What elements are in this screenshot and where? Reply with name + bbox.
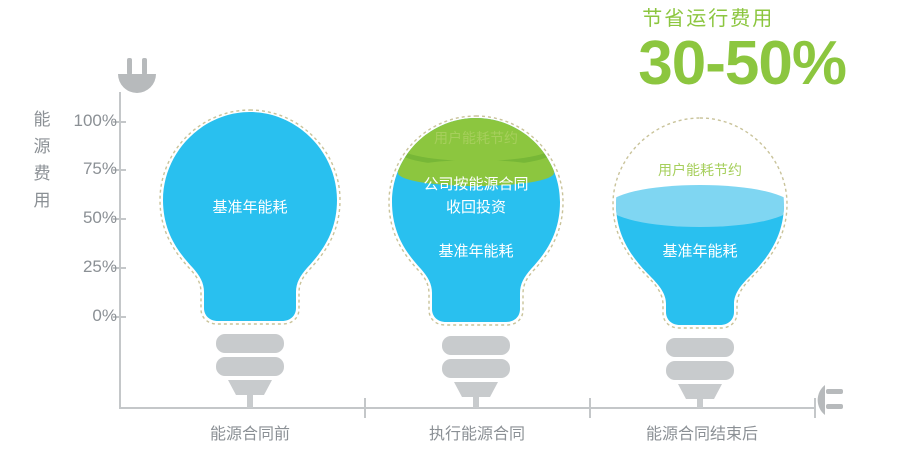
y-axis-label-char-4: 用	[31, 187, 53, 214]
bulb-after-contract	[608, 118, 800, 408]
y-axis-label-char-2: 源	[31, 133, 53, 160]
bulb-before-contract	[160, 110, 340, 408]
bulb-base	[442, 336, 510, 408]
y-axis-label-char-3: 费	[31, 160, 53, 187]
y-tick-75: 75%	[57, 159, 117, 179]
y-tick-0: 0%	[57, 306, 117, 326]
plug-icon-right	[818, 385, 843, 415]
y-axis-label-char-1: 能	[31, 106, 53, 133]
y-axis-label: 能 源 费 用	[31, 106, 53, 214]
x-label-after-contract: 能源合同结束后	[602, 420, 802, 444]
infographic-canvas: 节省运行费用 30-50% 能 源 费 用 100% 75% 50% 25% 0…	[0, 0, 900, 473]
y-tick-25: 25%	[57, 257, 117, 277]
bulb-base	[216, 334, 284, 408]
x-label-during-contract: 执行能源合同	[377, 420, 577, 444]
plug-icon-top	[118, 58, 156, 93]
x-label-before-contract: 能源合同前	[150, 420, 350, 444]
bulb-base	[666, 338, 734, 408]
y-tick-50: 50%	[57, 208, 117, 228]
y-tick-100: 100%	[57, 111, 117, 131]
headline-value: 30-50%	[638, 34, 846, 94]
headline: 节省运行费用 30-50%	[638, 6, 846, 94]
bulb-during-contract	[380, 110, 580, 408]
